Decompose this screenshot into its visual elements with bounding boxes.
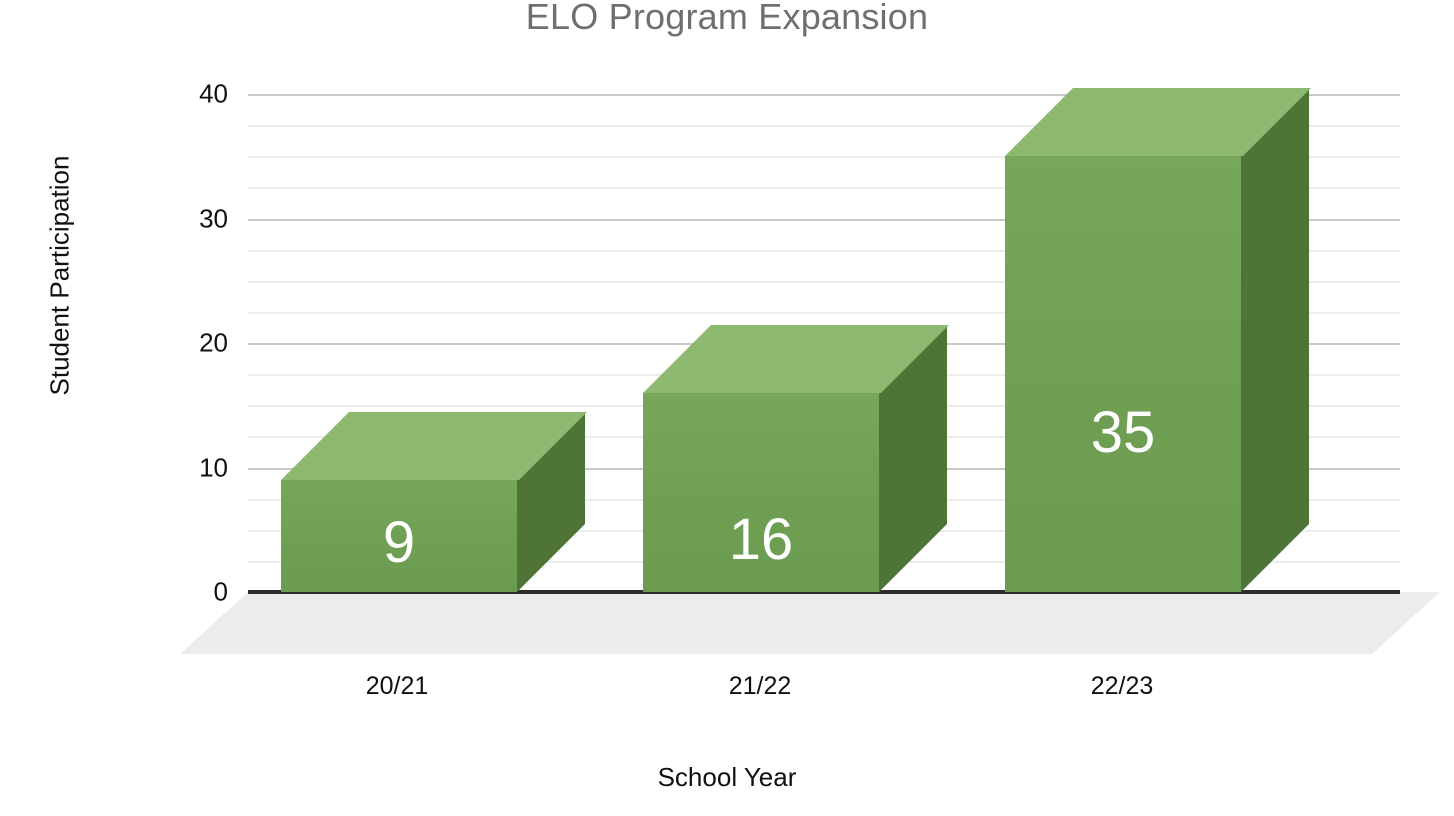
x-tick-label: 22/23 — [1091, 672, 1154, 701]
chart-canvas: ELO Program Expansion Student Participat… — [0, 0, 1454, 816]
bar-value-label: 9 — [281, 514, 517, 572]
bar-column-2223[interactable]: 35 — [1005, 88, 1241, 592]
bar-front-face — [1005, 156, 1241, 592]
bar-column-2021[interactable]: 9 — [281, 412, 517, 592]
bar-column-2122[interactable]: 16 — [643, 325, 879, 592]
bar-value-label: 35 — [1005, 404, 1241, 462]
x-tick-label: 21/22 — [729, 672, 792, 701]
x-tick-label: 20/21 — [366, 672, 429, 701]
bar-value-label: 16 — [643, 511, 879, 569]
bar-top-face — [281, 412, 587, 480]
bar-top-face — [1005, 88, 1311, 156]
bar-top-face — [643, 325, 949, 393]
x-axis-tick-labels: 20/21 21/22 22/23 — [0, 672, 1454, 712]
x-axis-title: School Year — [0, 762, 1454, 793]
